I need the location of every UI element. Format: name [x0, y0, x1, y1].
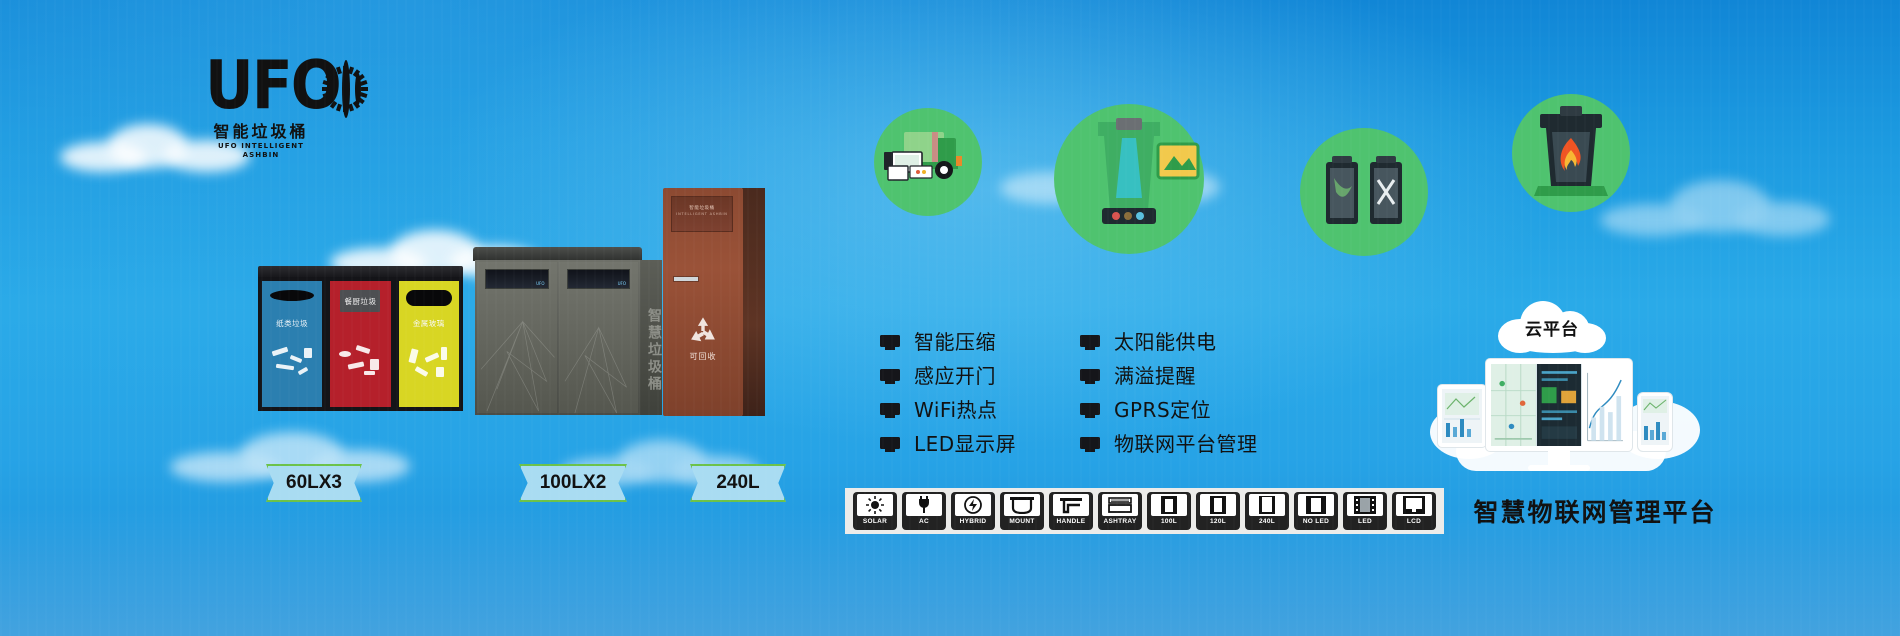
monitor-icon [880, 437, 900, 452]
fire-bin-icon [1512, 94, 1630, 212]
bin-compactor-icon [1054, 104, 1204, 254]
map-pane [1491, 364, 1537, 446]
iot-platform-illustration [1430, 345, 1690, 495]
truck-dashboard-illustration [874, 108, 982, 216]
feature-label: 感应开门 [914, 364, 996, 388]
spec-icon-strip: SOLAR AC HYBRID MOUNT HANDLE ASHTRAY 100… [845, 488, 1444, 534]
feature-label: WiFi热点 [914, 398, 998, 422]
bin-side-text: 智慧垃圾桶 [640, 260, 662, 415]
feature-label: LED显示屏 [914, 432, 1016, 456]
logo-subtitle-cn: 智能垃圾桶 [205, 123, 317, 141]
brand-logo: UFO 智能垃圾桶 UFO INTELLIGENT ASHBIN [205, 58, 315, 160]
sun-icon: SOLAR [853, 492, 897, 530]
icon-caption: ASHTRAY [1104, 516, 1137, 527]
led-panel-icon: LED [1343, 492, 1387, 530]
tablet-screen [1442, 389, 1482, 443]
bin-240l-icon: 240L [1245, 492, 1289, 530]
phone-screen [1641, 396, 1669, 445]
icon-caption: HANDLE [1057, 516, 1086, 527]
handle-icon: HANDLE [1049, 492, 1093, 530]
monitor-stand-base [1528, 465, 1590, 471]
feature-item: 智能压缩 [880, 325, 1016, 359]
bottle-slot [406, 290, 452, 306]
bin-front-panel: 智能垃圾桶 INTELLIGENT ASHBIN 可回收 [663, 188, 743, 416]
feature-list-left: 智能压缩 感应开门 WiFi热点 LED显示屏 [880, 325, 1016, 461]
monitor-icon [880, 403, 900, 418]
logo-subtitle-en: UFO INTELLIGENT ASHBIN [205, 142, 317, 160]
compaction-sensor-illustration [1054, 104, 1204, 254]
bin-door-left: UFO [477, 262, 557, 413]
monitor-icon [1080, 403, 1100, 418]
no-led-icon: NO LED [1294, 492, 1338, 530]
icon-caption: NO LED [1303, 516, 1329, 527]
bin-cell-paper: 纸类垃圾 [258, 277, 326, 411]
bin-label: 金属玻璃 [399, 319, 459, 328]
bin-capacity-label: 可回收 [690, 352, 717, 362]
bin-label: 餐厨垃圾 [330, 297, 390, 306]
recycle-icon [686, 314, 720, 348]
monitor-icon [1080, 369, 1100, 384]
icon-caption: HYBRID [960, 516, 987, 527]
feature-label: 物联网平台管理 [1114, 432, 1258, 456]
feature-item: 感应开门 [880, 359, 1016, 393]
panel-reflection [477, 262, 557, 416]
chart-pane [1582, 364, 1627, 446]
icon-caption: LED [1358, 516, 1372, 527]
hybrid-power-icon: HYBRID [951, 492, 995, 530]
feature-item: 太阳能供电 [1080, 325, 1258, 359]
brown-recycling-bin: 智能垃圾桶 INTELLIGENT ASHBIN 可回收 [663, 188, 763, 416]
bin-litter-graphic [266, 343, 318, 403]
feature-list-right: 太阳能供电 满溢提醒 GPRS定位 物联网平台管理 [1080, 325, 1258, 461]
three-colour-sorting-bins: 纸类垃圾 餐厨垃圾 [258, 266, 463, 411]
wall-mount-icon: MOUNT [1000, 492, 1044, 530]
fire-alarm-illustration [1512, 94, 1630, 212]
ashtray-icon: ASHTRAY [1098, 492, 1142, 530]
twin-bin-icon [1300, 128, 1428, 256]
product-banner: UFO 智能垃圾桶 UFO INTELLIGENT ASHBIN 纸类垃圾 [0, 0, 1900, 636]
feature-label: GPRS定位 [1114, 398, 1211, 422]
bin-120l-icon: 120L [1196, 492, 1240, 530]
card-reader-slot [673, 276, 699, 282]
power-plug-icon: AC [902, 492, 946, 530]
icon-caption: 120L [1210, 516, 1226, 527]
monitor-screen [1491, 364, 1627, 446]
capacity-ribbon-60lx3: 60LX3 [266, 464, 362, 502]
feature-label: 满溢提醒 [1114, 364, 1196, 388]
status-pane [1537, 364, 1583, 446]
feature-item: GPRS定位 [1080, 393, 1258, 427]
monitor-icon [1080, 437, 1100, 452]
capacity-ribbon-100lx2: 100LX2 [519, 464, 627, 502]
capacity-ribbon-240l: 240L [690, 464, 786, 502]
icon-caption: SOLAR [863, 516, 887, 527]
bin-side-panel [742, 188, 765, 416]
bin-100l-icon: 100L [1147, 492, 1191, 530]
bin-label: 纸类垃圾 [262, 319, 322, 328]
feature-item: WiFi热点 [880, 393, 1016, 427]
garbage-truck-icon [874, 108, 982, 216]
monitor-icon [1080, 335, 1100, 350]
feature-label: 智能压缩 [914, 330, 996, 354]
twin-door-smart-bin: UFO UFO 智慧垃圾桶 [475, 247, 640, 415]
feature-item: 满溢提醒 [1080, 359, 1258, 393]
bin-cell-metal-glass: 金属玻璃 [395, 277, 463, 411]
cloud-decoration [1600, 180, 1830, 236]
bin-door-right: UFO [559, 262, 639, 413]
feature-item: 物联网平台管理 [1080, 427, 1258, 461]
icon-caption: MOUNT [1009, 516, 1034, 527]
bin-hood [473, 247, 642, 261]
icon-caption: 100L [1161, 516, 1177, 527]
dual-bin-illustration [1300, 128, 1428, 256]
panel-reflection [559, 262, 639, 416]
bin-header-plate: 智能垃圾桶 INTELLIGENT ASHBIN [671, 196, 733, 232]
monitor-icon [880, 335, 900, 350]
icon-caption: LCD [1407, 516, 1421, 527]
bin-cell-kitchen: 餐厨垃圾 [326, 277, 394, 411]
tablet-device [1438, 385, 1486, 447]
smartphone-device [1638, 393, 1672, 451]
platform-title: 智慧物联网管理平台 [1430, 498, 1760, 528]
desktop-monitor [1486, 359, 1632, 451]
bin-litter-graphic [403, 343, 455, 403]
monitor-icon [880, 369, 900, 384]
feature-item: LED显示屏 [880, 427, 1016, 461]
feature-label: 太阳能供电 [1114, 330, 1217, 354]
bin-litter-graphic [334, 343, 386, 403]
bin-header-en: INTELLIGENT ASHBIN [672, 212, 732, 217]
icon-caption: 240L [1259, 516, 1275, 527]
logo-wordmark: UFO [205, 53, 340, 118]
icon-caption: AC [919, 516, 929, 527]
